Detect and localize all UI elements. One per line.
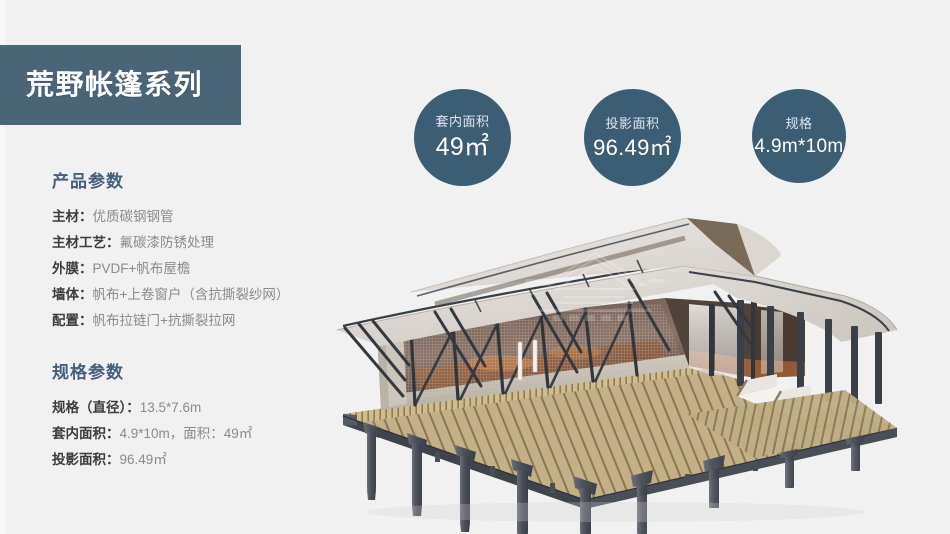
stat-circle-interior-area: 套内面积 49㎡ <box>414 89 511 186</box>
param-value: 帆布+上卷窗户（含抗撕裂纱网） <box>93 287 290 302</box>
param-value: 氟碳漆防锈处理 <box>120 235 215 250</box>
stat-value: 96.49㎡ <box>593 137 672 159</box>
param-label: 墙体： <box>52 287 93 302</box>
stat-value: 4.9m*10m <box>755 137 844 156</box>
param-value: 96.49㎡ <box>120 452 167 467</box>
param-value: PVDF+帆布屋檐 <box>93 261 191 276</box>
param-row: 主材工艺：氟碳漆防锈处理 <box>52 230 289 256</box>
stat-value: 49㎡ <box>436 135 490 160</box>
param-value: 4.9*10m，面积：49㎡ <box>120 426 253 441</box>
param-label: 外膜： <box>52 261 93 276</box>
stat-caption: 投影面积 <box>605 117 659 130</box>
param-label: 规格（直径）： <box>52 400 140 415</box>
param-row: 套内面积：4.9*10m，面积：49㎡ <box>52 421 252 447</box>
stat-circle-projected-area: 投影面积 96.49㎡ <box>584 89 681 186</box>
spec-parameters-panel: 规格参数 规格（直径）：13.5*7.6m 套内面积：4.9*10m，面积：49… <box>52 358 252 473</box>
param-label: 主材工艺： <box>52 235 120 250</box>
stat-caption: 规格 <box>785 117 812 130</box>
stat-circle-dimensions: 规格 4.9m*10m <box>752 89 846 183</box>
section-heading-spec: 规格参数 <box>52 358 252 383</box>
param-label: 主材： <box>52 209 93 224</box>
section-heading-product: 产品参数 <box>52 167 289 192</box>
param-row: 墙体：帆布+上卷窗户（含抗撕裂纱网） <box>52 282 289 308</box>
slide-canvas: 荒野帐篷系列 产品参数 主材：优质碳钢钢管 主材工艺：氟碳漆防锈处理 外膜：PV… <box>0 0 950 534</box>
param-label: 配置： <box>52 313 93 328</box>
param-row: 配置：帆布拉链门+抗撕裂拉网 <box>52 308 289 334</box>
product-parameters-panel: 产品参数 主材：优质碳钢钢管 主材工艺：氟碳漆防锈处理 外膜：PVDF+帆布屋檐… <box>52 167 289 334</box>
param-value: 优质碳钢钢管 <box>93 209 174 224</box>
param-row: 主材：优质碳钢钢管 <box>52 204 289 230</box>
title-block: 荒野帐篷系列 <box>0 45 241 125</box>
param-row: 规格（直径）：13.5*7.6m <box>52 395 252 421</box>
param-value: 13.5*7.6m <box>140 400 202 415</box>
param-row: 外膜：PVDF+帆布屋檐 <box>52 256 289 282</box>
tent-render-image <box>285 200 950 534</box>
param-label: 投影面积： <box>52 452 120 467</box>
page-title: 荒野帐篷系列 <box>26 71 203 99</box>
param-row: 投影面积：96.49㎡ <box>52 447 252 473</box>
param-label: 套内面积： <box>52 426 120 441</box>
param-value: 帆布拉链门+抗撕裂拉网 <box>93 313 236 328</box>
stat-caption: 套内面积 <box>435 115 489 128</box>
